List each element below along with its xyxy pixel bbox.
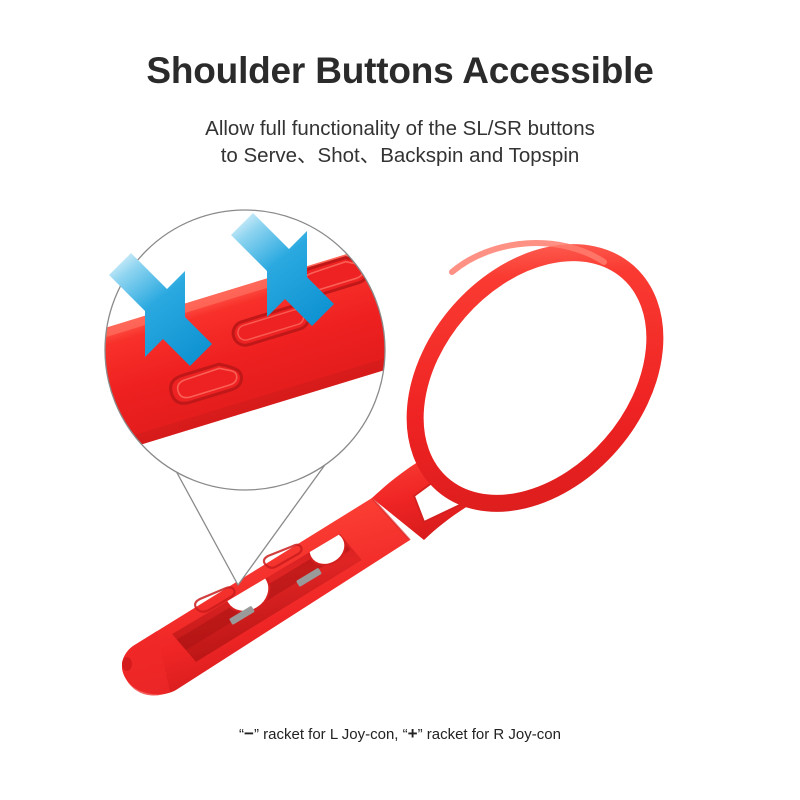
footnote-text-right: racket for R Joy-con xyxy=(423,726,561,743)
minus-symbol: − xyxy=(244,724,254,743)
footnote: “−” racket for L Joy-con, “+” racket for… xyxy=(0,724,800,744)
product-feature-slide: Shoulder Buttons Accessible Allow full f… xyxy=(0,0,800,800)
footnote-text-left: racket for L Joy-con, xyxy=(259,726,403,743)
product-illustration xyxy=(0,0,800,800)
plus-symbol: + xyxy=(408,724,418,743)
butt-cap-nub xyxy=(122,657,132,671)
